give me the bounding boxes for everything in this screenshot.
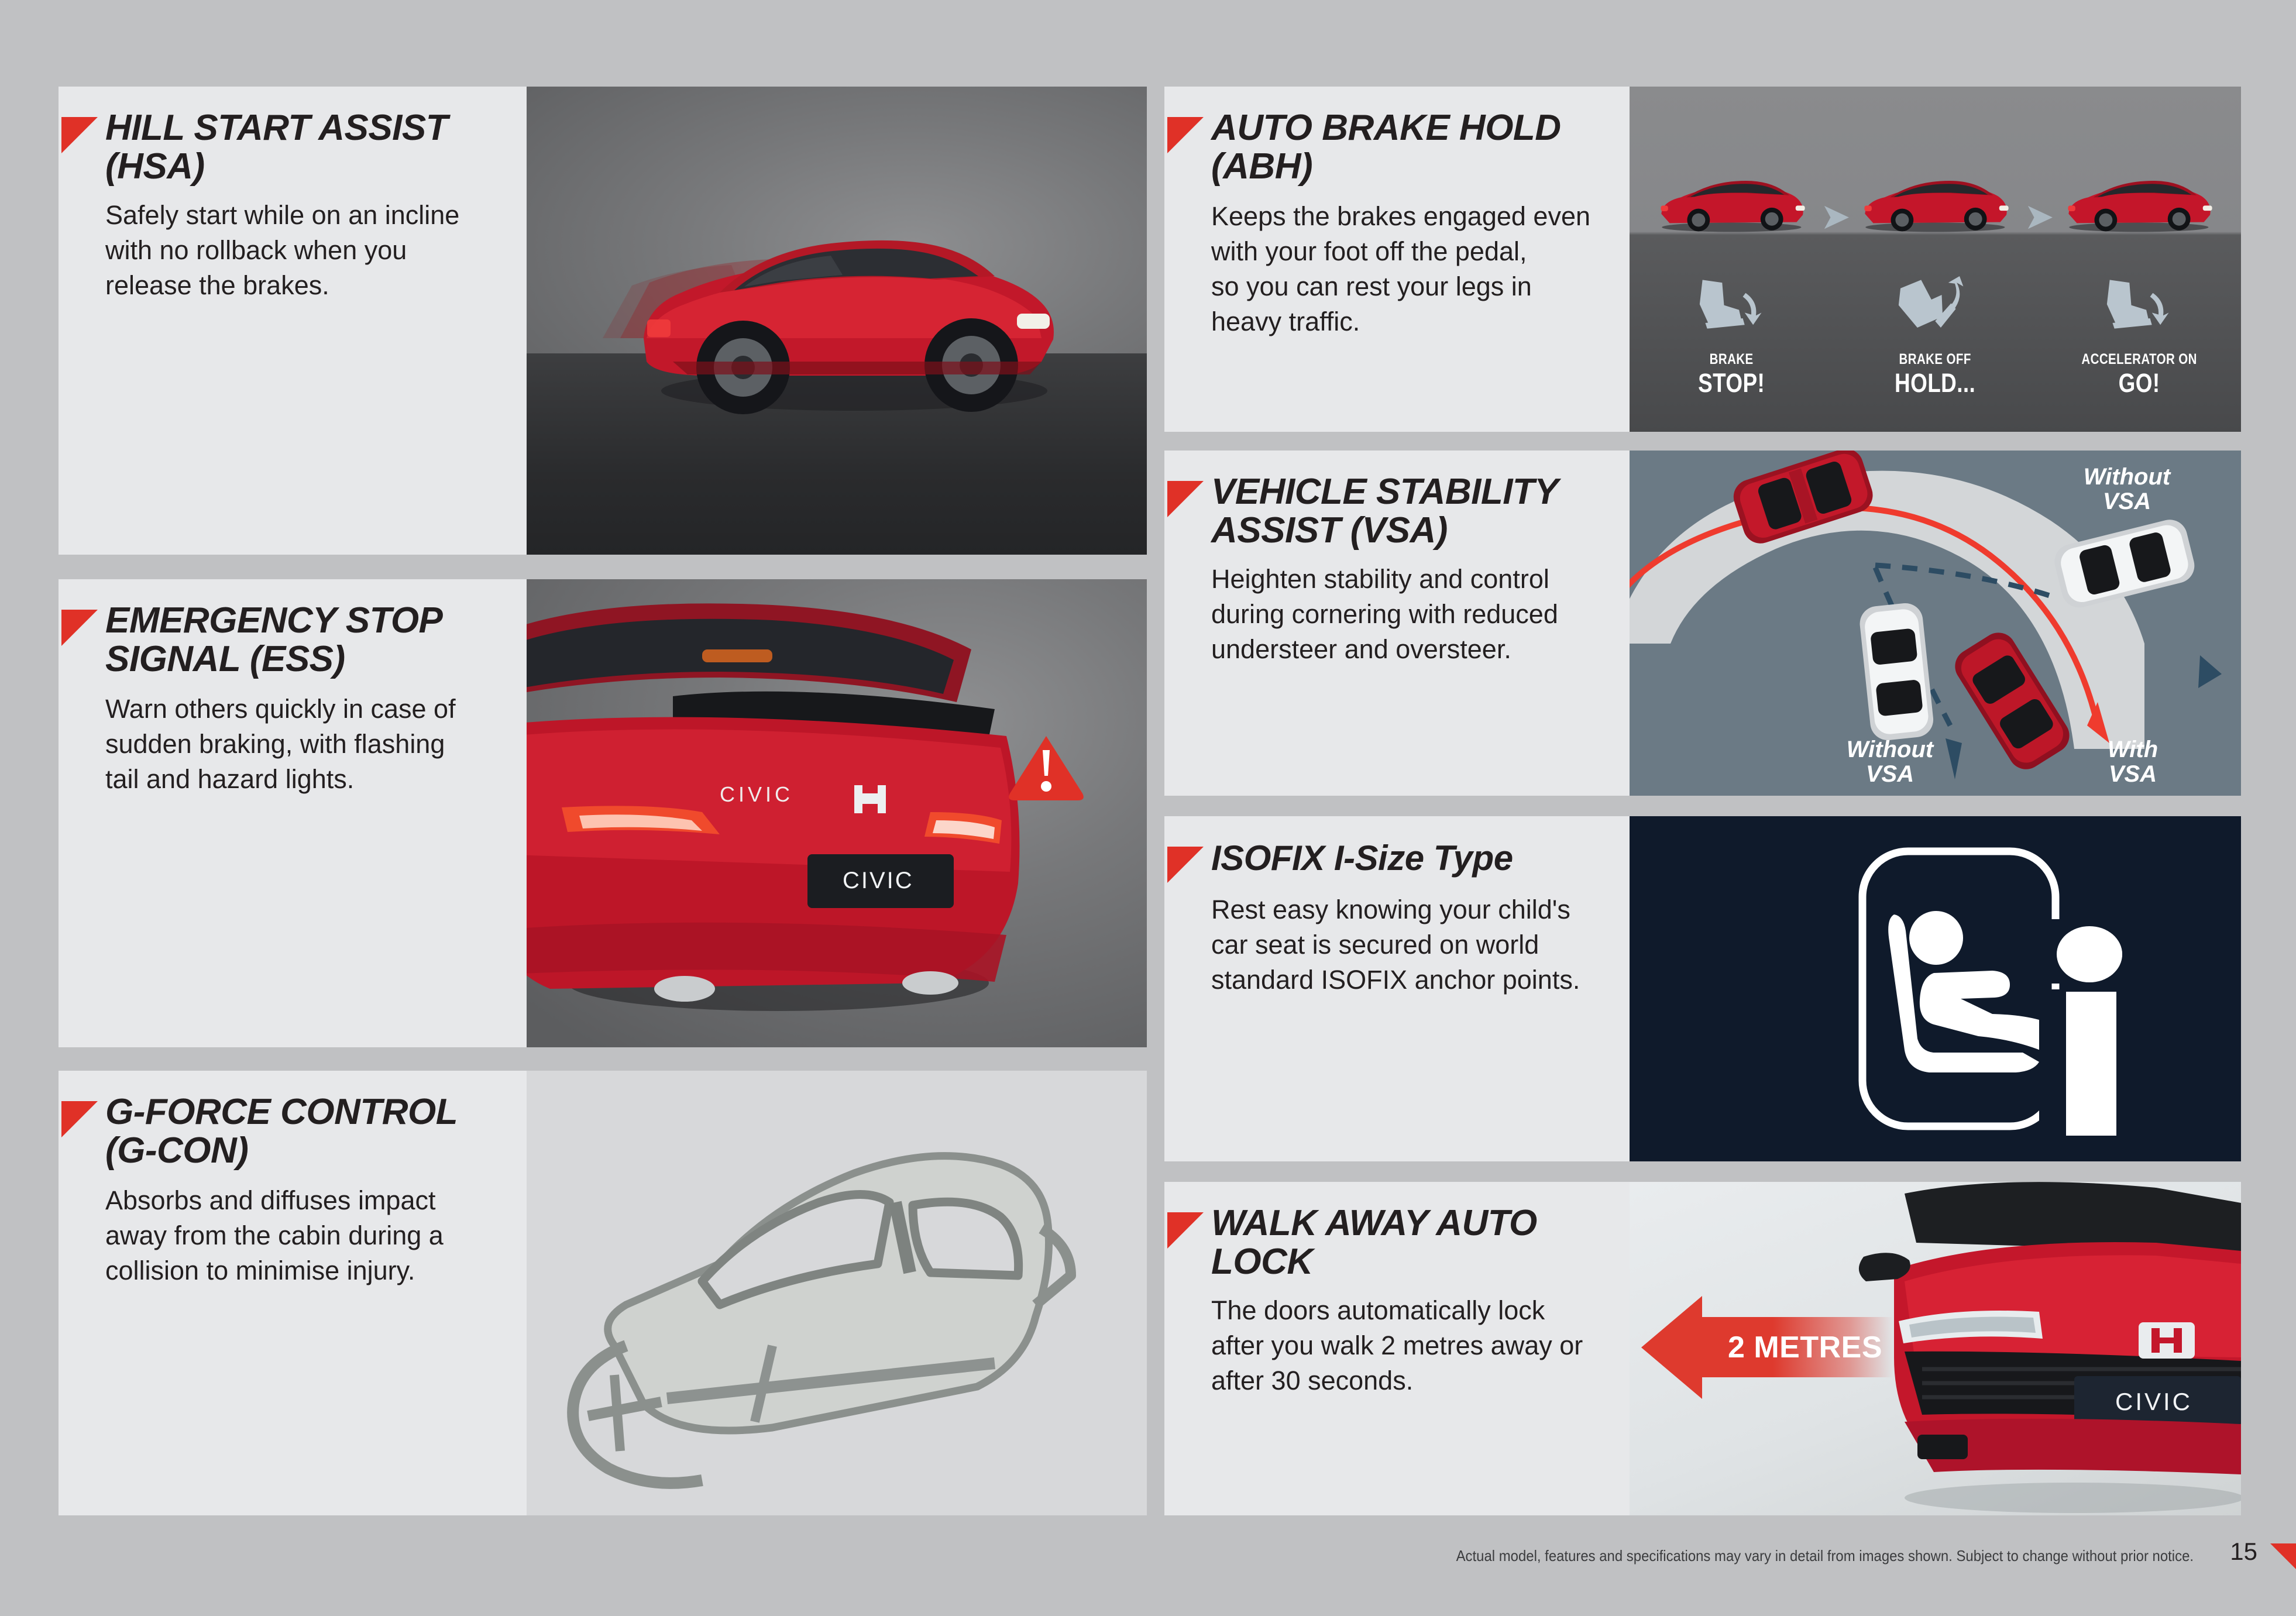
child-seat-isize-icon [1862,851,2122,1136]
panel-hill-start-assist: HILL START ASSIST (HSA) Safely start whi… [59,87,527,555]
image-auto-brake-hold: BRAKE STOP! ➤ BRAKE OFF [1630,87,2241,432]
image-hill-start-assist [527,87,1147,555]
disclaimer-text: Actual model, features and specification… [1456,1547,2194,1565]
abh-step-2-caption: BRAKE OFF HOLD... [1833,352,2037,396]
two-metres-arrow: 2 METRES [1641,1296,1893,1398]
gcon-title: G-FORCE CONTROL (G-CON) [105,1093,509,1171]
image-vehicle-stability-assist: Without VSA Without VSA With VSA [1630,451,2241,796]
plate-badge-civic: CIVIC [843,868,914,893]
panel-vehicle-stability-assist: VEHICLE STABILITY ASSIST (VSA) Heighten … [1164,451,1630,796]
trunk-badge-civic: CIVIC [720,782,793,806]
foot-accelerator-pressed-icon [2090,270,2184,339]
hsa-body: Safely start while on an incline with no… [105,198,491,303]
red-triangle-marker-icon [2270,1543,2296,1569]
red-triangle-marker-icon [61,610,98,646]
foot-brake-pressed-icon [1683,270,1776,339]
car-side-icon [1654,159,1809,249]
panel-emergency-stop-signal: EMERGENCY STOP SIGNAL (ESS) Warn others … [59,579,527,1047]
body-shell-frame [573,1156,1071,1483]
vsa-title: VEHICLE STABILITY ASSIST (VSA) [1211,473,1615,551]
abh-step-2: BRAKE OFF HOLD... [1833,87,2037,432]
image-g-force-control [527,1071,1147,1515]
red-triangle-marker-icon [1167,847,1204,883]
ess-body: Warn others quickly in case of sudden br… [105,692,491,797]
panel-g-force-control: G-FORCE CONTROL (G-CON) Absorbs and diff… [59,1071,527,1515]
car-side-icon [1858,159,2013,249]
gcon-body: Absorbs and diffuses impact away from th… [105,1183,491,1288]
car-top-white-understeer [2051,516,2198,611]
ess-title: EMERGENCY STOP SIGNAL (ESS) [105,601,509,679]
car-rear-view: CIVIC CIVIC [527,603,1020,1011]
page-number: 15 [2230,1538,2257,1566]
hsa-title: HILL START ASSIST (HSA) [105,109,503,187]
isofix-body: Rest easy knowing your child's car seat … [1211,892,1609,998]
image-walk-away-auto-lock: CIVIC 2 METRES [1630,1182,2241,1515]
vsa-label-without-top: Without VSA [2063,465,2191,514]
walk-title: WALK AWAY AUTO LOCK [1211,1204,1615,1282]
vsa-label-without-bottom: Without VSA [1823,737,1957,787]
walk-body: The doors automatically lock after you w… [1211,1293,1615,1398]
red-triangle-marker-icon [1167,1212,1204,1249]
panel-auto-brake-hold: AUTO BRAKE HOLD (ABH) Keeps the brakes e… [1164,87,1630,432]
arrow-head-left-icon [1641,1296,1702,1399]
red-triangle-marker-icon [61,117,98,153]
car-top-white-oversteer [1858,601,1935,742]
abh-step-3-caption: ACCELERATOR ON GO! [2037,352,2241,396]
red-triangle-marker-icon [1167,117,1204,153]
abh-step-3: ACCELERATOR ON GO! [2037,87,2241,432]
plate-badge-civic: CIVIC [2115,1388,2192,1415]
vsa-label-with: With VSA [2074,737,2191,787]
image-isofix [1630,816,2241,1161]
abh-step-1-caption: BRAKE STOP! [1630,352,1833,396]
abh-body: Keeps the brakes engaged even with your … [1211,199,1609,339]
panel-isofix: ISOFIX I-Size Type Rest easy knowing you… [1164,816,1630,1161]
car-side-rear-three-quarter [603,240,1054,414]
arrow-label: 2 METRES [1728,1330,1882,1365]
abh-title: AUTO BRAKE HOLD (ABH) [1211,109,1615,187]
red-triangle-marker-icon [61,1101,98,1137]
warning-triangle-icon [1009,736,1084,800]
foot-brake-released-icon [1886,270,1980,339]
car-side-icon [2061,159,2216,249]
page-footer: Actual model, features and specification… [0,1521,2296,1616]
isofix-title: ISOFIX I-Size Type [1211,840,1621,877]
vsa-body: Heighten stability and control during co… [1211,562,1609,667]
car-front-view: CIVIC [1859,1182,2241,1513]
panel-walk-away-auto-lock: WALK AWAY AUTO LOCK The doors automatica… [1164,1182,1630,1515]
image-emergency-stop-signal: CIVIC CIVIC [527,579,1147,1047]
red-triangle-marker-icon [1167,481,1204,517]
abh-step-1: BRAKE STOP! [1630,87,1833,432]
